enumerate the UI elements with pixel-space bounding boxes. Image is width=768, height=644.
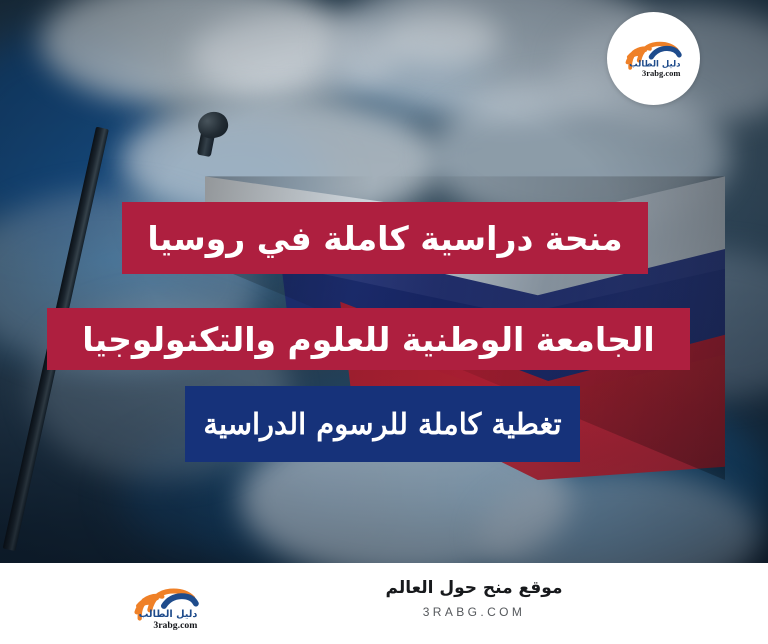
footer-text-block: موقع منح حول العالم 3RABG.COM (0, 578, 768, 619)
banner-coverage: تغطية كاملة للرسوم الدراسية (185, 386, 580, 462)
banner-university: الجامعة الوطنية للعلوم والتكنولوجيا (47, 308, 690, 370)
3rabg-logo-icon: دليل الطالب 3rabg.com (620, 35, 688, 83)
footer-url: 3RABG.COM (423, 605, 526, 619)
banner-coverage-text: تغطية كاملة للرسوم الدراسية (203, 407, 561, 441)
logo-domain-text: 3rabg.com (642, 68, 680, 78)
banner-headline: منحة دراسية كاملة في روسيا (122, 202, 648, 274)
banner-university-text: الجامعة الوطنية للعلوم والتكنولوجيا (82, 320, 654, 359)
banner-headline-text: منحة دراسية كاملة في روسيا (147, 219, 622, 258)
footer-tagline: موقع منح حول العالم (386, 578, 563, 598)
logo-badge: دليل الطالب 3rabg.com (607, 12, 700, 105)
logo-domain-text: 3rabg.com (153, 620, 197, 631)
poster-canvas: دليل الطالب 3rabg.com منحة دراسية كاملة … (0, 0, 768, 644)
